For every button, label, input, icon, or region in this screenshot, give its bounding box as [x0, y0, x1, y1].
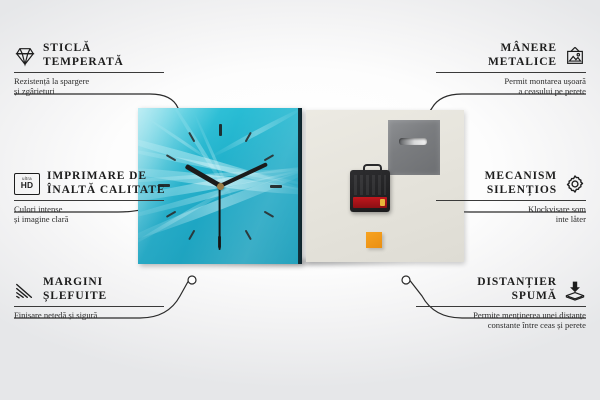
foam-spacer	[366, 232, 382, 248]
callout-header: STICLĂTEMPERATĂ	[14, 42, 164, 69]
callout-title: IMPRIMARE DEÎNALTĂ CALITATE	[47, 170, 165, 197]
callout-distantier-spuma: DISTANȚIERSPUMĂ Permite menținerea unei …	[416, 276, 586, 331]
callout-divider	[14, 200, 164, 201]
callout-description: Culori intense și imagine clară	[14, 204, 164, 225]
callout-mecanism-silentios: MECANISMSILENȚIOS Klockvisare som inte l…	[436, 170, 586, 225]
callout-title: STICLĂTEMPERATĂ	[43, 42, 124, 69]
callout-description: Rezistență la spargere și zgârieturi	[14, 76, 164, 97]
hanger-keyhole-slot	[399, 138, 427, 145]
ultra-hd-icon: ultra HD	[14, 173, 40, 195]
callout-description: Permit montarea ușoară a ceasului pe per…	[436, 76, 586, 97]
callout-header: DISTANȚIERSPUMĂ	[416, 276, 586, 303]
callout-description: Klockvisare som inte låter	[436, 204, 586, 225]
callout-title: MECANISMSILENȚIOS	[485, 170, 557, 197]
callout-divider	[436, 72, 586, 73]
clock-second-hand	[219, 186, 221, 250]
callout-header: MECANISMSILENȚIOS	[436, 170, 586, 197]
callout-divider	[436, 200, 586, 201]
picture-frame-icon	[564, 45, 586, 67]
battery	[353, 197, 387, 208]
callout-manere-metalice: MÂNEREMETALICE Permit montarea ușoară a …	[436, 42, 586, 97]
callout-description: Permite menținerea unei distanțe constan…	[416, 310, 586, 331]
callout-title: MARGINIȘLEFUITE	[43, 276, 107, 303]
polished-edges-icon	[14, 279, 36, 301]
callout-title: DISTANȚIERSPUMĂ	[477, 276, 557, 303]
press-down-icon	[564, 279, 586, 301]
infographic-canvas: STICLĂTEMPERATĂ Rezistență la spargere ș…	[0, 0, 600, 400]
callout-divider	[416, 306, 586, 307]
product-image	[138, 108, 464, 268]
mechanism-hanger-loop	[363, 164, 382, 175]
callout-imprimare-inalta-calitate: ultra HD IMPRIMARE DEÎNALTĂ CALITATE Cul…	[14, 170, 164, 225]
diamond-icon	[14, 45, 36, 67]
callout-margini-slefuite: MARGINIȘLEFUITE Finisare netedă și sigur…	[14, 276, 164, 320]
callout-divider	[14, 72, 164, 73]
mechanism-label	[354, 175, 386, 195]
quartz-mechanism	[350, 170, 390, 212]
callout-divider	[14, 306, 164, 307]
clock-center-cap	[217, 183, 224, 190]
connector-endpoint-distantier	[402, 276, 410, 284]
callout-title: MÂNEREMETALICE	[488, 42, 557, 69]
gear-icon	[564, 173, 586, 195]
callout-description: Finisare netedă și sigură	[14, 310, 164, 320]
metal-hanger-plate	[388, 120, 440, 175]
ultra-hd-icon-main-text: HD	[21, 181, 34, 190]
callout-header: ultra HD IMPRIMARE DEÎNALTĂ CALITATE	[14, 170, 164, 197]
connector-endpoint-margini	[188, 276, 196, 284]
callout-sticla-temperata: STICLĂTEMPERATĂ Rezistență la spargere ș…	[14, 42, 164, 97]
glass-polished-edge	[298, 108, 302, 264]
callout-header: MARGINIȘLEFUITE	[14, 276, 164, 303]
callout-header: MÂNEREMETALICE	[436, 42, 586, 69]
